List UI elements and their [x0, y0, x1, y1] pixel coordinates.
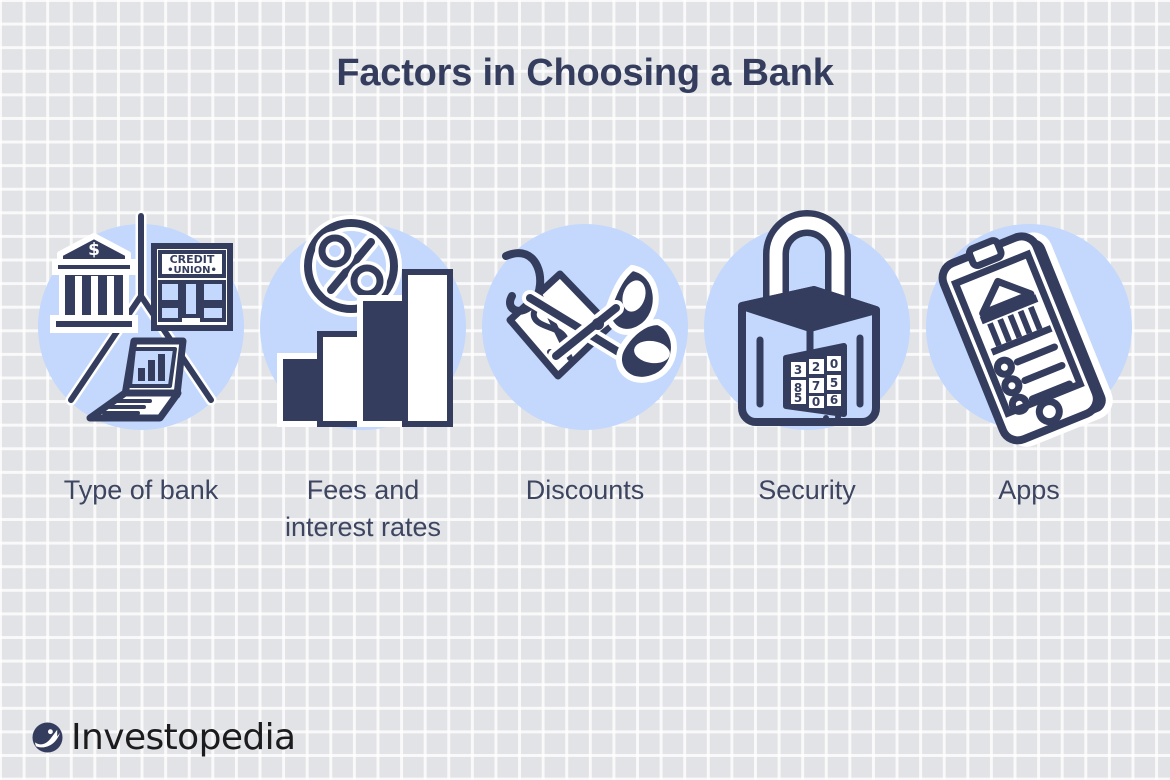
bank-credit-union-laptop-icon: $ CREDIT •UNION• [38, 210, 244, 444]
percent-bar-chart-icon [260, 210, 466, 444]
combination-padlock-icon: 3 2 0 8 7 5 5 0 6 [704, 210, 910, 444]
svg-text:0: 0 [812, 395, 820, 409]
investopedia-logo-icon [32, 722, 63, 753]
svg-text:3: 3 [794, 363, 802, 377]
svg-text:2: 2 [812, 360, 820, 374]
icon-circle-apps [926, 224, 1132, 430]
svg-text:$: $ [88, 240, 100, 260]
factor-label-fees-and-interest-rates: Fees and interest rates [285, 472, 441, 546]
icon-circle-security: 3 2 0 8 7 5 5 0 6 [704, 224, 910, 430]
smartphone-banking-app-icon [926, 210, 1132, 444]
credit-union-building-glyph: CREDIT •UNION• [154, 246, 230, 328]
factor-label-type-of-bank: Type of bank [64, 472, 219, 509]
svg-text:7: 7 [812, 379, 820, 393]
svg-text:•UNION•: •UNION• [167, 265, 217, 276]
icon-circle-discounts [482, 224, 688, 430]
factor-card-discounts[interactable]: Discounts [474, 224, 696, 509]
factor-card-apps[interactable]: Apps [918, 224, 1140, 509]
svg-text:0: 0 [830, 357, 838, 371]
factor-label-discounts: Discounts [526, 472, 645, 509]
page-title: Factors in Choosing a Bank [0, 52, 1170, 95]
factors-row: $ CREDIT •UNION• [30, 224, 1140, 546]
svg-text:5: 5 [830, 376, 838, 390]
factor-label-apps: Apps [998, 472, 1060, 509]
icon-circle-fees-and-interest-rates [260, 224, 466, 430]
infographic-canvas: Factors in Choosing a Bank [0, 0, 1170, 780]
factor-card-fees-and-interest-rates[interactable]: Fees and interest rates [252, 224, 474, 546]
padlock-keypad-glyph: 3 2 0 8 7 5 5 0 6 [786, 346, 844, 421]
icon-circle-type-of-bank: $ CREDIT •UNION• [38, 224, 244, 430]
bank-building-glyph: $ [53, 236, 135, 330]
investopedia-wordmark: Investopedia [71, 717, 296, 758]
factor-card-security[interactable]: 3 2 0 8 7 5 5 0 6 [696, 224, 918, 509]
factor-card-type-of-bank[interactable]: $ CREDIT •UNION• [30, 224, 252, 509]
scissors-cutting-dollar-bill-icon [482, 210, 688, 444]
investopedia-logo[interactable]: Investopedia [32, 717, 296, 758]
svg-text:6: 6 [830, 393, 838, 407]
factor-label-security: Security [758, 472, 856, 509]
svg-text:5: 5 [794, 391, 802, 405]
